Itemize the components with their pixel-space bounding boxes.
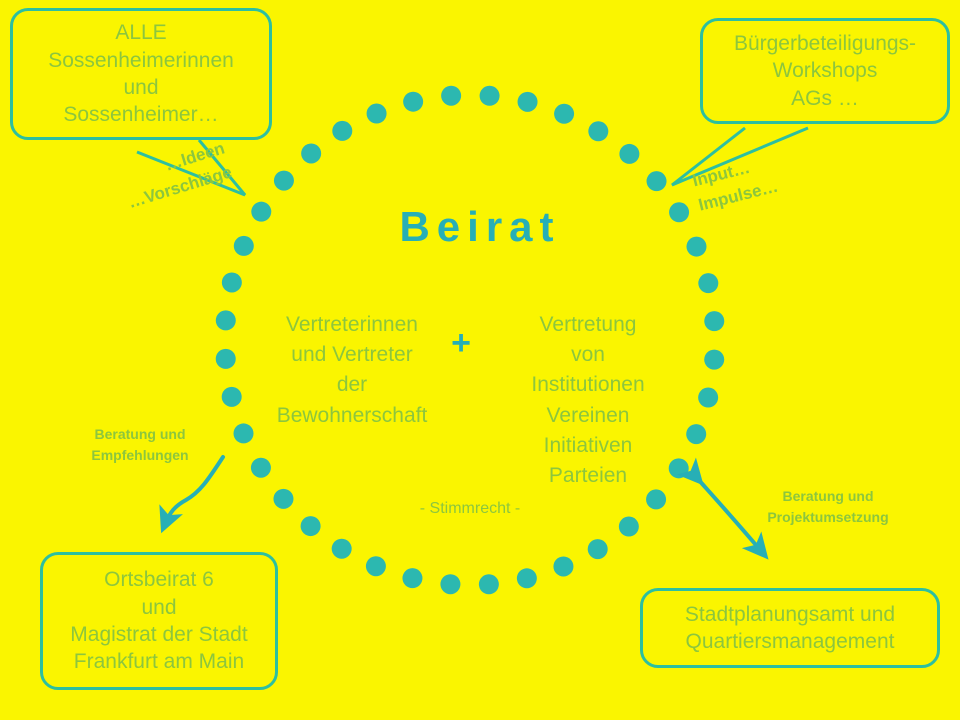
plus-icon: +	[441, 326, 481, 360]
circle-dot	[619, 144, 639, 164]
council-right-line-2: von	[498, 340, 678, 370]
annotation-beratung-proj-line-1: Beratung und	[748, 486, 908, 507]
voting-right-note: - Stimmrecht -	[330, 500, 610, 518]
annotation-beratung-empf-line-1: Beratung und	[80, 424, 200, 445]
council-left-line-4: Bewohnerschaft	[262, 401, 442, 431]
box-ortsbeirat-line-4: Frankfurt am Main	[51, 648, 267, 675]
circle-dot	[704, 350, 724, 370]
circle-dot	[440, 574, 460, 594]
circle-dot	[403, 92, 423, 112]
circle-dot	[480, 86, 500, 106]
circle-dot	[619, 517, 639, 537]
circle-dot	[332, 121, 352, 141]
bubble-participation-workshops-text: Bürgerbeteiligungs- Workshops AGs …	[703, 30, 947, 112]
box-ortsbeirat-text: Ortsbeirat 6 und Magistrat der Stadt Fra…	[43, 566, 275, 675]
box-stadtplanungsamt-quartiersmanagement[interactable]: Stadtplanungsamt und Quartiersmanagement	[640, 588, 940, 668]
circle-dot	[646, 489, 666, 509]
circle-dot	[216, 310, 236, 330]
circle-dot	[686, 424, 706, 444]
circle-dot	[301, 143, 321, 163]
box-ortsbeirat-line-2: und	[51, 594, 267, 621]
circle-dot	[518, 92, 538, 112]
circle-dot	[273, 489, 293, 509]
circle-dot	[517, 568, 537, 588]
bubble-all-residents-line-3: und	[21, 74, 261, 101]
bubble-workshops-line-3: AGs …	[711, 85, 939, 112]
circle-dot	[698, 273, 718, 293]
circle-dot	[222, 272, 242, 292]
bubble-workshops-line-2: Workshops	[711, 57, 939, 84]
circle-dot	[367, 104, 387, 124]
annotation-beratung-empfehlungen: Beratung und Empfehlungen	[80, 424, 200, 466]
bubble-all-residents-line-4: Sossenheimer…	[21, 101, 261, 128]
circle-dot	[588, 121, 608, 141]
circle-dot	[332, 539, 352, 559]
diagram-canvas: Beirat Vertreterinnen und Vertreter der …	[0, 0, 960, 720]
council-left-line-3: der	[262, 370, 442, 400]
circle-dot	[704, 311, 724, 331]
circle-dot	[216, 349, 236, 369]
circle-dot	[588, 539, 608, 559]
bubble-all-residents-line-2: Sossenheimerinnen	[21, 47, 261, 74]
bubble-participation-workshops[interactable]: Bürgerbeteiligungs- Workshops AGs …	[700, 18, 950, 124]
circle-dot	[274, 171, 294, 191]
circle-dot	[234, 423, 254, 443]
circle-dot	[441, 86, 461, 106]
box-stadtplanung-line-2: Quartiersmanagement	[651, 628, 929, 655]
box-stadtplanung-line-1: Stadtplanungsamt und	[651, 601, 929, 628]
circle-dot	[479, 574, 499, 594]
circle-dot	[251, 458, 271, 478]
council-right-line-4: Vereinen	[498, 401, 678, 431]
circle-dot	[301, 516, 321, 536]
council-right-line-5: Initiativen	[498, 431, 678, 461]
circle-dot	[222, 387, 242, 407]
bubble-all-residents[interactable]: ALLE Sossenheimerinnen und Sossenheimer…	[10, 8, 272, 140]
annotation-beratung-empf-line-2: Empfehlungen	[80, 445, 200, 466]
circle-dot	[402, 568, 422, 588]
box-ortsbeirat-line-1: Ortsbeirat 6	[51, 566, 267, 593]
circle-dot	[554, 104, 574, 124]
box-stadtplanung-text: Stadtplanungsamt und Quartiersmanagement	[643, 601, 937, 656]
annotation-beratung-projektumsetzung: Beratung und Projektumsetzung	[748, 486, 908, 528]
circle-dot	[366, 556, 386, 576]
council-right-line-6: Parteien	[498, 461, 678, 491]
council-right-line-1: Vertretung	[498, 310, 678, 340]
beratung-empfehlungen-arrow	[165, 457, 223, 524]
bubble-all-residents-text: ALLE Sossenheimerinnen und Sossenheimer…	[13, 19, 269, 128]
council-members-institutions: Vertretung von Institutionen Vereinen In…	[498, 310, 678, 491]
circle-dot	[553, 556, 573, 576]
bubble-all-residents-line-1: ALLE	[21, 19, 261, 46]
circle-dot	[698, 388, 718, 408]
box-ortsbeirat-line-3: Magistrat der Stadt	[51, 621, 267, 648]
annotation-beratung-proj-line-2: Projektumsetzung	[748, 507, 908, 528]
council-right-line-3: Institutionen	[498, 370, 678, 400]
bubble-workshops-line-1: Bürgerbeteiligungs-	[711, 30, 939, 57]
council-left-line-2: und Vertreter	[262, 340, 442, 370]
council-left-line-1: Vertreterinnen	[262, 310, 442, 340]
circle-dot	[647, 171, 667, 191]
box-ortsbeirat-magistrat[interactable]: Ortsbeirat 6 und Magistrat der Stadt Fra…	[40, 552, 278, 690]
council-members-residents: Vertreterinnen und Vertreter der Bewohne…	[262, 310, 442, 431]
